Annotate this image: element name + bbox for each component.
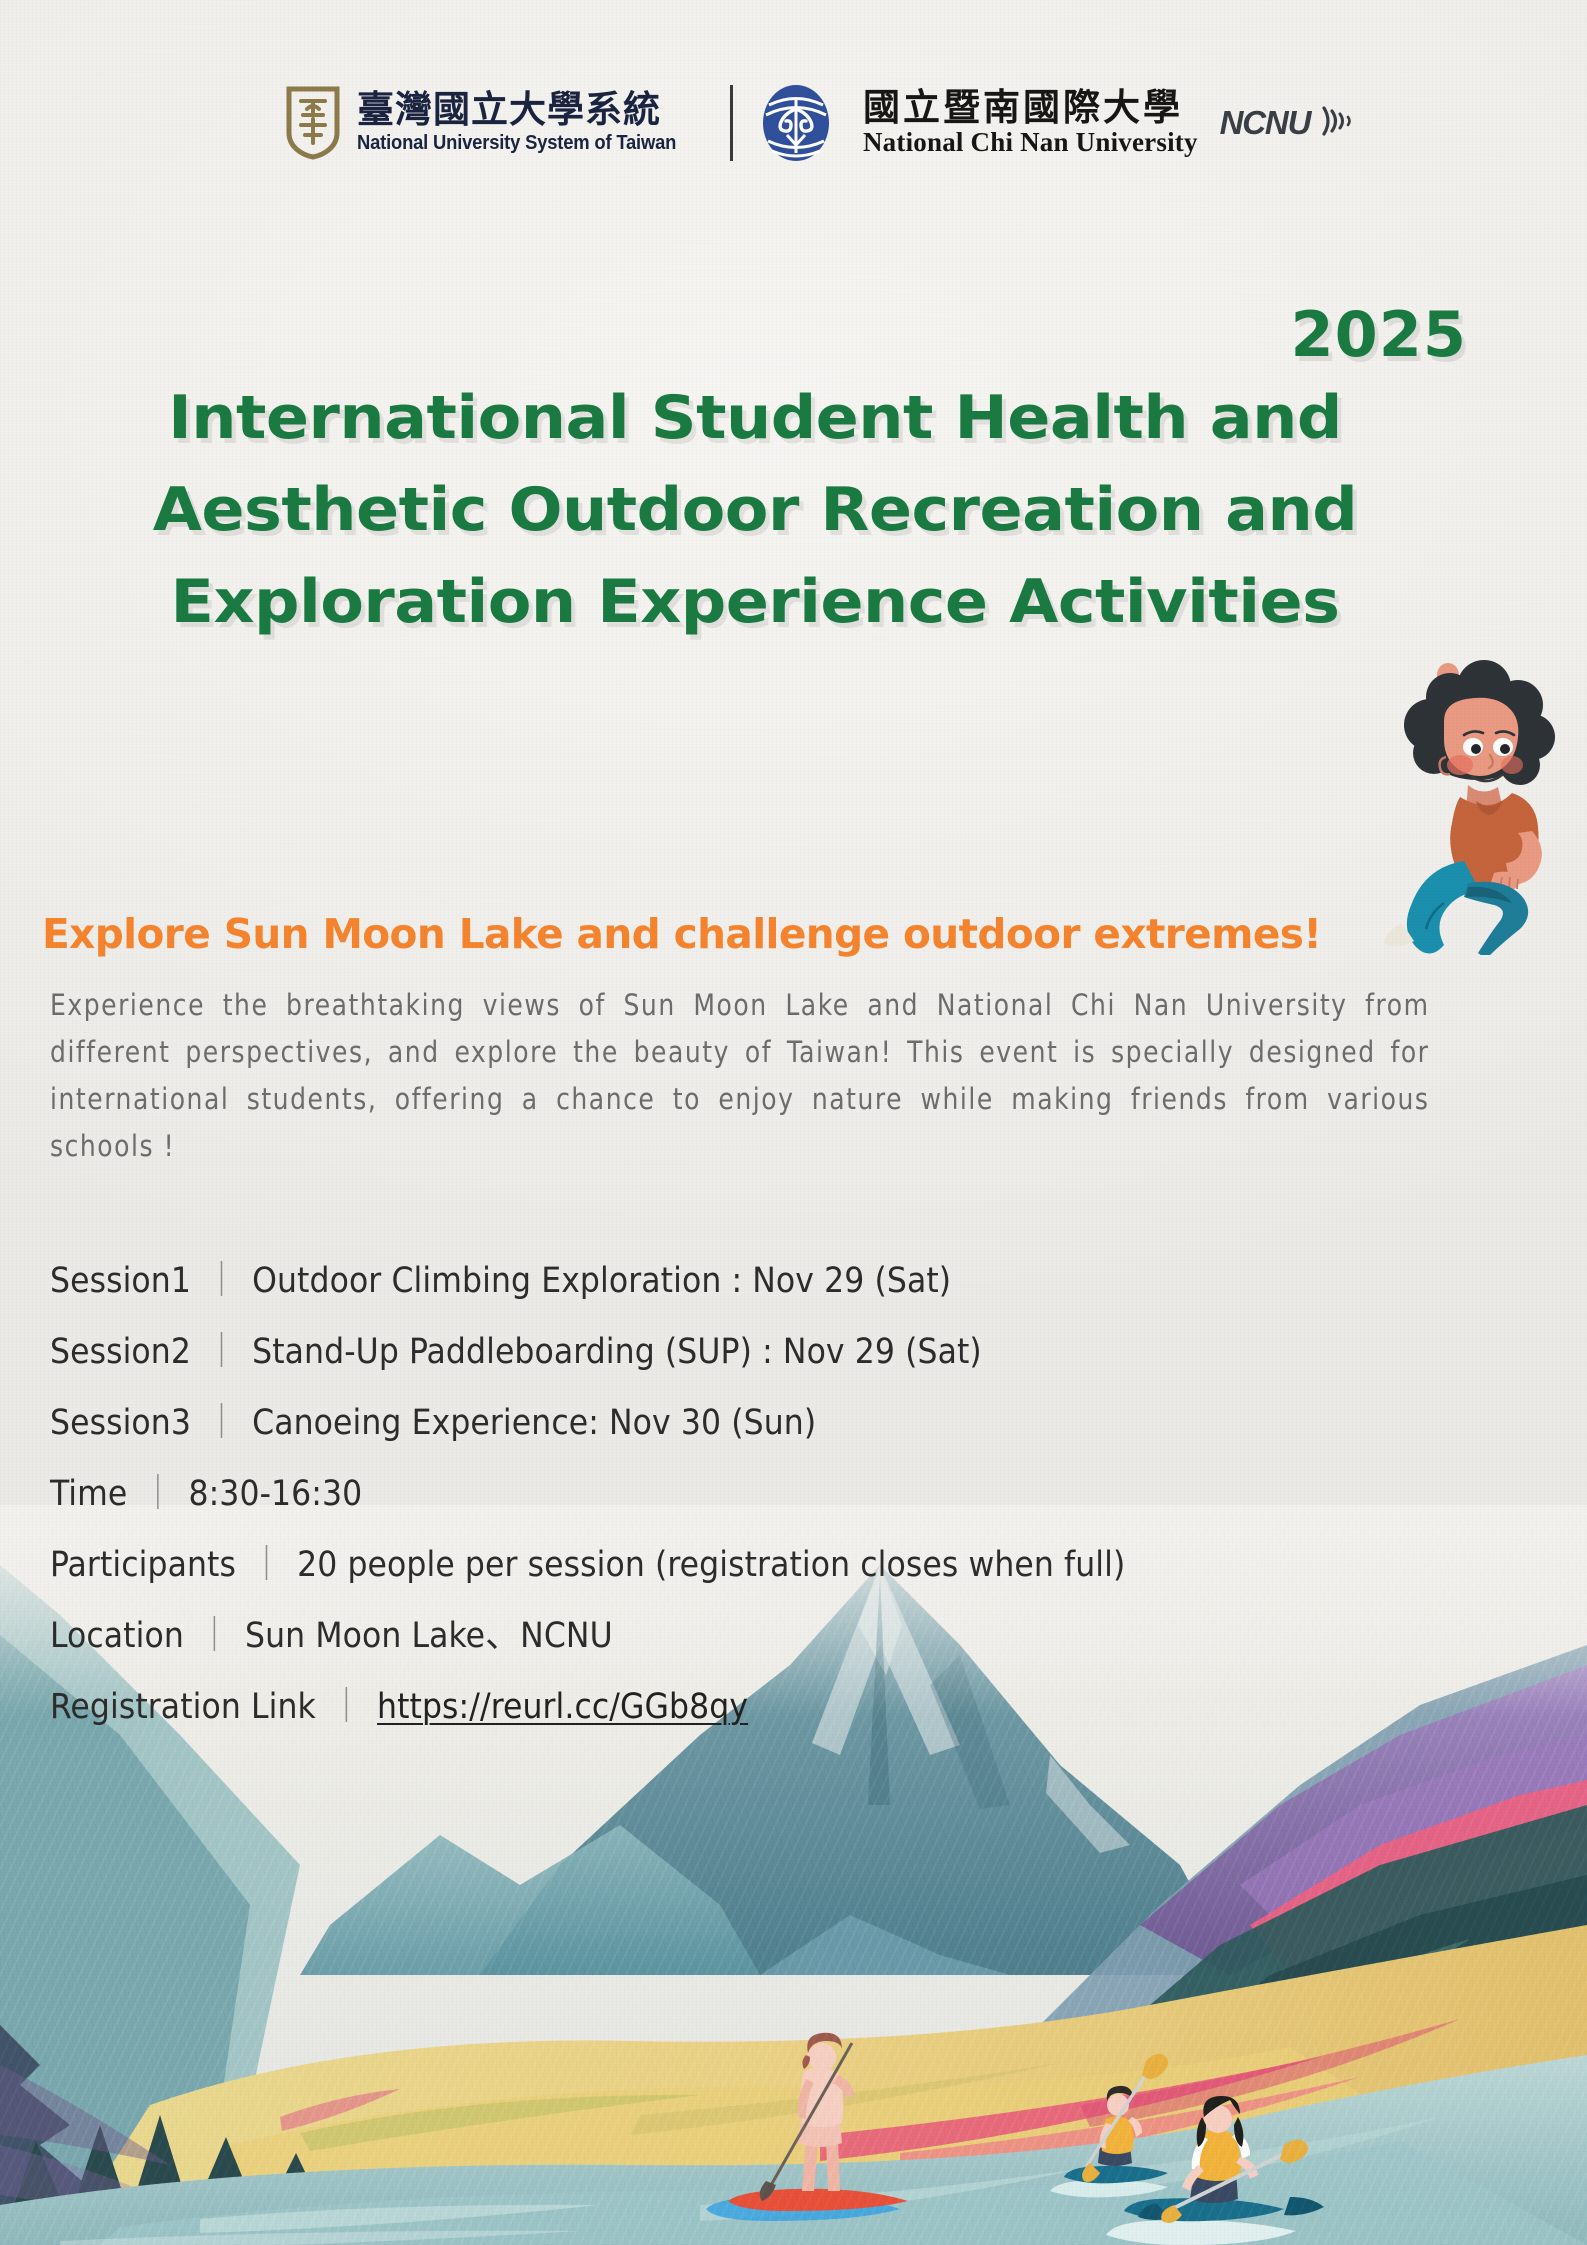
detail-separator: ｜ — [316, 1681, 377, 1733]
title-line-1: International Student Health and — [0, 372, 1555, 464]
event-details-list: Session1 ｜ Outdoor Climbing Exploration … — [50, 1255, 1530, 1752]
detail-value: 20 people per session (registration clos… — [297, 1539, 1125, 1591]
detail-separator: ｜ — [191, 1397, 252, 1449]
detail-row-participants: Participants ｜ 20 people per session (re… — [50, 1539, 1530, 1591]
header-logos: 臺灣國立大學系統 National University System of T… — [285, 78, 1495, 168]
nust-logo: 臺灣國立大學系統 National University System of T… — [285, 85, 704, 161]
ncnu-chinese-name: 國立暨南國際大學 — [863, 88, 1198, 127]
title-line-2: Aesthetic Outdoor Recreation and — [0, 464, 1555, 556]
detail-row-session3: Session3 ｜ Canoeing Experience: Nov 30 (… — [50, 1397, 1530, 1449]
detail-value: Sun Moon Lake、NCNU — [245, 1610, 613, 1662]
ncnu-swish-icon — [1320, 104, 1356, 143]
tagline: Explore Sun Moon Lake and challenge outd… — [42, 910, 1321, 958]
ncnu-wordmark: NCNU — [1220, 104, 1311, 142]
ncnu-english-name: National Chi Nan University — [863, 127, 1198, 158]
title-line-3: Exploration Experience Activities — [0, 556, 1555, 648]
description-text: Experience the breathtaking views of Sun… — [50, 982, 1430, 1170]
detail-separator: ｜ — [191, 1326, 252, 1378]
ncnu-logo: 國立暨南國際大學 National Chi Nan University — [759, 83, 1198, 163]
detail-row-time: Time ｜ 8:30-16:30 — [50, 1468, 1530, 1520]
detail-row-location: Location ｜ Sun Moon Lake、NCNU — [50, 1610, 1530, 1662]
registration-link[interactable]: https://reurl.cc/GGb8qy — [377, 1681, 748, 1733]
detail-value: Outdoor Climbing Exploration : Nov 29 (S… — [252, 1255, 951, 1307]
detail-label: Location — [50, 1610, 184, 1662]
detail-row-session1: Session1 ｜ Outdoor Climbing Exploration … — [50, 1255, 1530, 1307]
detail-separator: ｜ — [236, 1539, 297, 1591]
detail-separator: ｜ — [184, 1610, 245, 1662]
detail-label: Session3 — [50, 1397, 191, 1449]
detail-label: Registration Link — [50, 1681, 316, 1733]
ncnu-wordmark-group: NCNU — [1220, 104, 1357, 143]
page-title: International Student Health and Aesthet… — [0, 372, 1510, 648]
ncnu-seal-icon — [759, 83, 833, 163]
header-divider — [730, 85, 733, 161]
detail-value: 8:30-16:30 — [188, 1468, 362, 1520]
detail-value: Stand-Up Paddleboarding (SUP) : Nov 29 (… — [252, 1326, 982, 1378]
nust-chinese-name: 臺灣國立大學系統 — [357, 91, 704, 130]
detail-label: Time — [50, 1468, 127, 1520]
detail-separator: ｜ — [191, 1255, 252, 1307]
detail-label: Session2 — [50, 1326, 191, 1378]
nust-text-block: 臺灣國立大學系統 National University System of T… — [357, 91, 704, 156]
detail-value: Canoeing Experience: Nov 30 (Sun) — [252, 1397, 816, 1449]
title-year: 2025 — [1290, 298, 1467, 371]
nust-english-name: National University System of Taiwan — [357, 132, 676, 155]
detail-separator: ｜ — [127, 1468, 188, 1520]
climbing-kid-illustration — [1372, 625, 1577, 955]
poster-canvas: 臺灣國立大學系統 National University System of T… — [0, 0, 1587, 2245]
description-paragraph: Experience the breathtaking views of Sun… — [50, 982, 1430, 1170]
detail-row-registration: Registration Link ｜ https://reurl.cc/GGb… — [50, 1681, 1530, 1733]
detail-label: Participants — [50, 1539, 236, 1591]
detail-row-session2: Session2 ｜ Stand-Up Paddleboarding (SUP)… — [50, 1326, 1530, 1378]
shield-xue-icon — [285, 85, 341, 161]
ncnu-text-block: 國立暨南國際大學 National Chi Nan University — [863, 88, 1198, 159]
detail-label: Session1 — [50, 1255, 191, 1307]
